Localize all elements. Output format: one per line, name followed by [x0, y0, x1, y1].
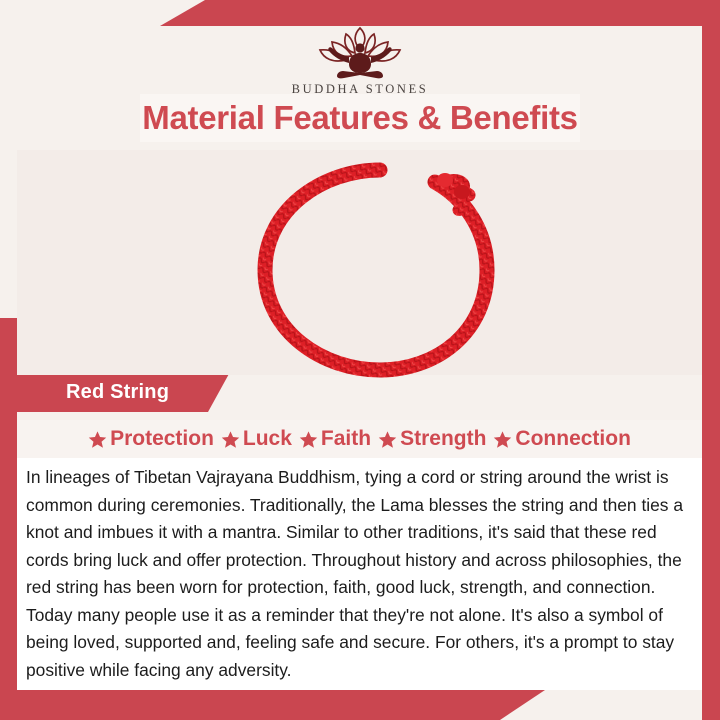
benefit-item: Strength: [378, 427, 486, 451]
benefit-item: Luck: [221, 427, 292, 451]
benefit-label: Protection: [110, 427, 214, 451]
description-text: In lineages of Tibetan Vajrayana Buddhis…: [26, 464, 688, 684]
benefit-label: Strength: [400, 427, 486, 451]
star-icon: [221, 430, 240, 449]
benefit-label: Faith: [321, 427, 371, 451]
description-panel: In lineages of Tibetan Vajrayana Buddhis…: [17, 458, 702, 690]
star-icon: [493, 430, 512, 449]
decorative-right-bar: [702, 0, 720, 720]
brand-logo: BUDDHA STONES: [0, 22, 720, 97]
red-braided-bracelet-icon: [249, 162, 511, 380]
ribbon-label: Red String: [66, 381, 169, 404]
page-title: Material Features & Benefits: [142, 99, 577, 137]
benefit-label: Luck: [243, 427, 292, 451]
star-icon: [299, 430, 318, 449]
benefit-item: Connection: [493, 427, 631, 451]
star-icon: [378, 430, 397, 449]
decorative-bottom-bar: [0, 690, 720, 720]
star-icon: [88, 430, 107, 449]
hero-image-panel: [17, 150, 702, 375]
benefit-item: Protection: [88, 427, 214, 451]
benefits-row: Protection Luck Faith Strength Connectio…: [17, 420, 702, 458]
benefit-item: Faith: [299, 427, 371, 451]
infographic-page: BUDDHA STONES Material Features & Benefi…: [0, 0, 720, 720]
benefit-label: Connection: [515, 427, 631, 451]
title-banner: Material Features & Benefits: [140, 94, 580, 142]
lotus-meditation-icon: [308, 22, 412, 80]
